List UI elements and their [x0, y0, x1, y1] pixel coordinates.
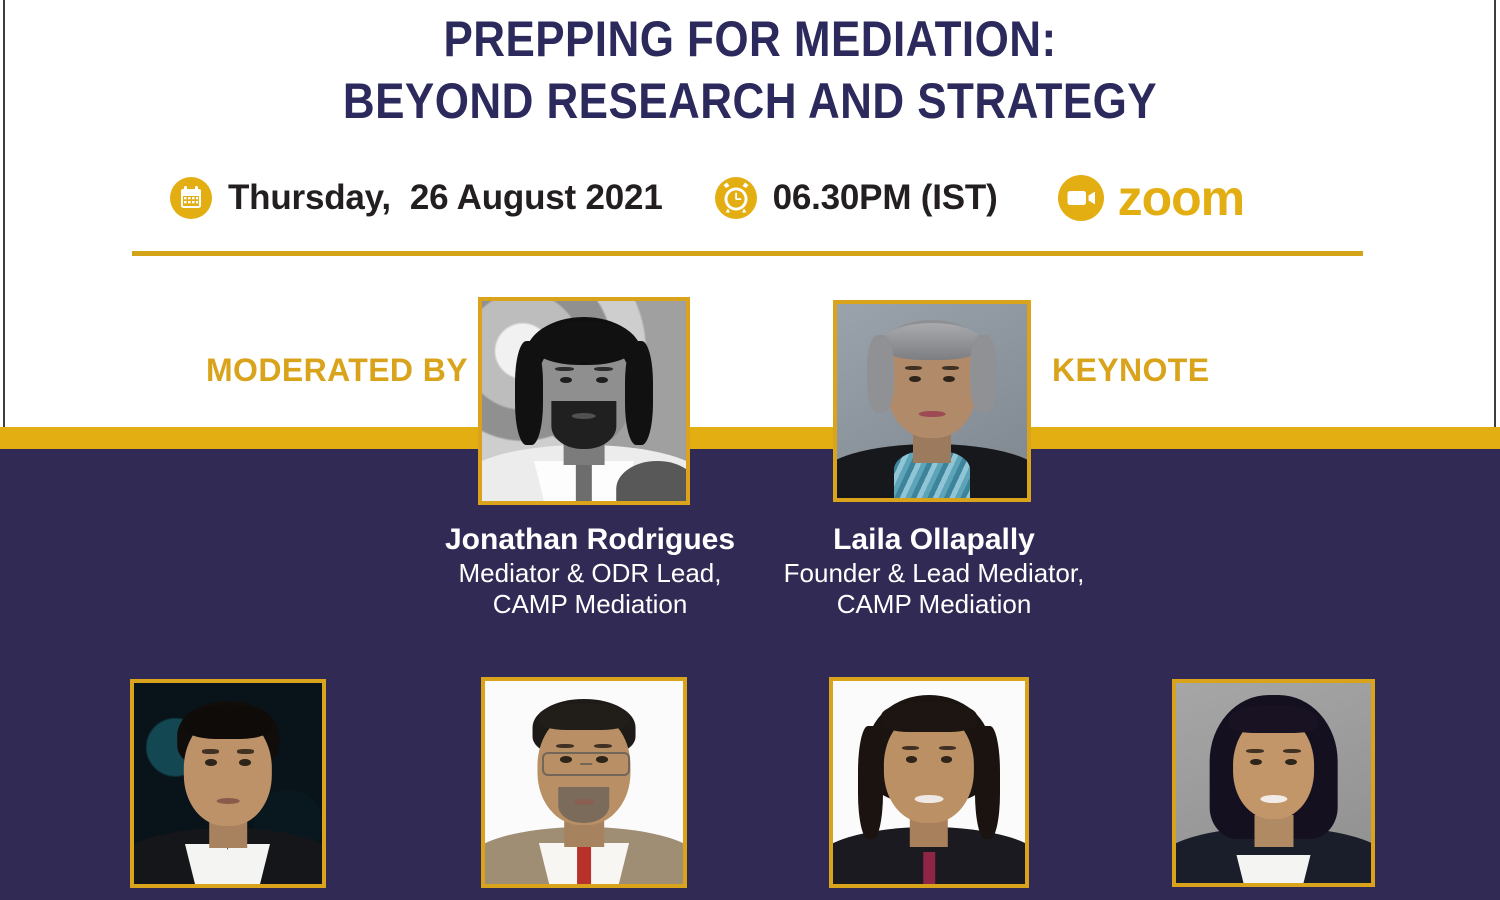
moderated-by-label: MODERATED BY — [206, 352, 468, 389]
keynote-label: KEYNOTE — [1052, 352, 1210, 389]
speaker-role: Founder & Lead Mediator, CAMP Mediation — [745, 558, 1123, 620]
alarm-clock-icon — [715, 177, 757, 219]
left-border-line — [3, 0, 5, 427]
portrait-frame-jonathan-rodrigues — [478, 297, 690, 505]
event-date: Thursday, 26 August 2021 — [170, 177, 663, 219]
right-border-line — [1494, 0, 1496, 427]
event-date-text: Thursday, 26 August 2021 — [228, 178, 663, 218]
portrait-panelist-4 — [1176, 683, 1371, 883]
divider-rule — [132, 251, 1363, 256]
zoom-logo: zoom — [1058, 173, 1245, 223]
glasses-detail — [542, 752, 629, 776]
webinar-poster: PREPPING FOR MEDIATION: BEYOND RESEARCH … — [0, 0, 1500, 900]
speaker-info-jonathan-rodrigues: Jonathan Rodrigues Mediator & ODR Lead, … — [400, 522, 780, 620]
event-time: 06.30PM (IST) — [715, 177, 998, 219]
portrait-frame-panelist-4 — [1172, 679, 1375, 887]
speaker-info-laila-ollapally: Laila Ollapally Founder & Lead Mediator,… — [745, 522, 1123, 620]
portrait-frame-panelist-2 — [481, 677, 687, 888]
portrait-frame-panelist-1 — [130, 679, 326, 888]
speaker-role: Mediator & ODR Lead, CAMP Mediation — [400, 558, 780, 620]
gold-band — [0, 427, 1500, 449]
speaker-name: Laila Ollapally — [745, 522, 1123, 558]
event-time-text: 06.30PM (IST) — [773, 178, 998, 218]
portrait-jonathan-rodrigues — [482, 301, 686, 501]
portrait-frame-laila-ollapally — [833, 300, 1031, 502]
speaker-name: Jonathan Rodrigues — [400, 522, 780, 558]
portrait-panelist-1 — [134, 683, 322, 884]
portrait-panelist-3 — [833, 681, 1025, 884]
event-meta-row: Thursday, 26 August 2021 06.30PM (IST) — [170, 168, 1244, 228]
page-title: PREPPING FOR MEDIATION: BEYOND RESEARCH … — [90, 8, 1410, 132]
portrait-laila-ollapally — [837, 304, 1027, 498]
zoom-wordmark: zoom — [1118, 173, 1245, 223]
portrait-frame-panelist-3 — [829, 677, 1029, 888]
zoom-video-camera-icon — [1058, 175, 1104, 221]
calendar-icon — [170, 177, 212, 219]
portrait-panelist-2 — [485, 681, 683, 884]
